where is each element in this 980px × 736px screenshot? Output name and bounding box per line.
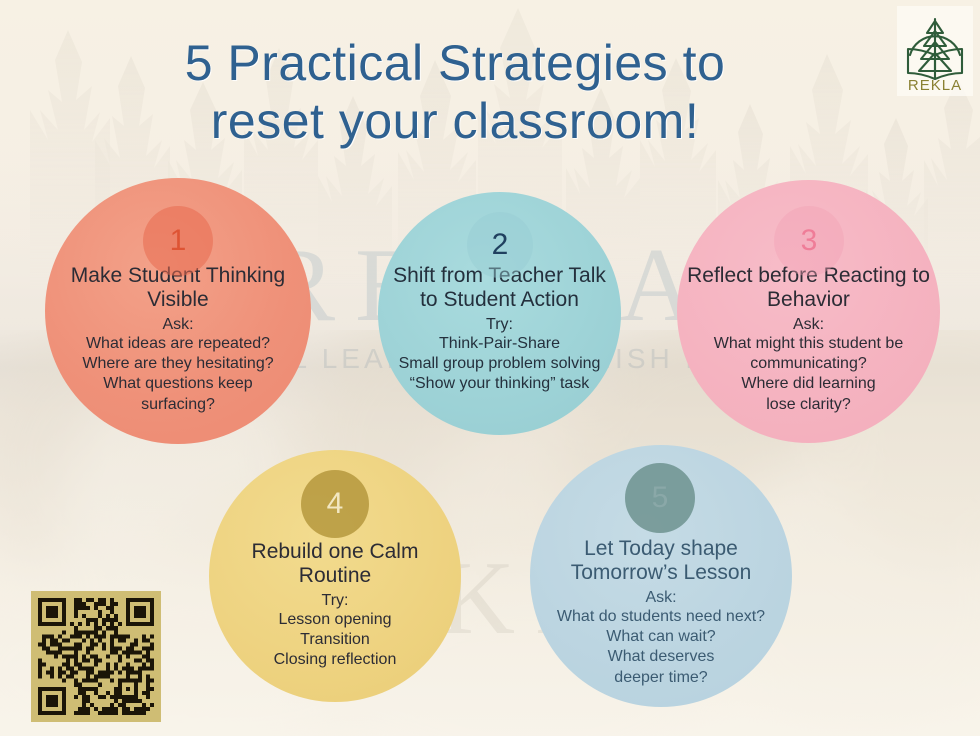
strategy-circle-3[interactable]: 3 Reflect before Reacting to Behavior As… [677, 180, 940, 443]
strategy-number-badge-4: 4 [301, 470, 369, 538]
logo-wordmark: REKLA [908, 77, 962, 93]
strategy-item: What do students need next? [557, 607, 765, 627]
strategy-item: What might this student be [714, 334, 903, 354]
strategy-item: What deserves [557, 647, 765, 667]
strategy-item: Where did learning [714, 374, 903, 394]
strategy-item: Lesson opening [274, 610, 397, 630]
strategy-item: Think-Pair-Share [399, 334, 601, 354]
strategy-lead-3: Ask: [793, 315, 824, 334]
strategy-item: Small group problem solving [399, 354, 601, 374]
brand-logo: REKLA [897, 6, 973, 96]
strategy-lead-2: Try: [486, 315, 513, 334]
strategy-item: “Show your thinking” task [399, 374, 601, 394]
strategy-item: What questions keep [82, 374, 273, 394]
strategy-item: What ideas are repeated? [82, 334, 273, 354]
strategy-number-badge-1: 1 [143, 206, 213, 276]
strategy-title-4: Rebuild one Calm Routine [209, 540, 461, 588]
strategy-circle-2[interactable]: 2 Shift from Teacher Talk to Student Act… [378, 192, 621, 435]
strategy-circle-1[interactable]: 1 Make Student Thinking Visible Ask: Wha… [45, 178, 311, 444]
strategy-circle-4[interactable]: 4 Rebuild one Calm Routine Try: Lesson o… [209, 450, 461, 702]
strategy-circle-5[interactable]: 5 Let Today shape Tomorrow’s Lesson Ask:… [530, 445, 792, 707]
strategy-title-5: Let Today shape Tomorrow’s Lesson [530, 537, 792, 585]
page-title-line1: 5 Practical Strategies to [185, 35, 726, 91]
strategy-number-badge-5: 5 [625, 463, 695, 533]
strategy-lead-4: Try: [322, 591, 349, 610]
page-title: 5 Practical Strategies to reset your cla… [40, 34, 870, 150]
strategy-items-1: What ideas are repeated? Where are they … [82, 334, 273, 415]
strategy-lead-1: Ask: [162, 315, 193, 334]
strategy-items-5: What do students need next? What can wai… [557, 607, 765, 688]
strategy-item: Transition [274, 630, 397, 650]
pine-tree-book-icon: REKLA [900, 9, 970, 93]
poster-canvas: REKLA GLOBAL LEARNING - FINNISH ROOTS RE… [0, 0, 980, 736]
strategy-item: What can wait? [557, 627, 765, 647]
strategy-lead-5: Ask: [645, 588, 676, 607]
strategy-item: Where are they hesitating? [82, 354, 273, 374]
qr-code[interactable] [31, 591, 161, 722]
strategy-item: communicating? [714, 354, 903, 374]
strategy-item: Closing reflection [274, 650, 397, 670]
strategy-item: surfacing? [82, 395, 273, 415]
strategy-number-badge-3: 3 [774, 206, 844, 276]
strategy-items-2: Think-Pair-Share Small group problem sol… [399, 334, 601, 394]
strategy-items-3: What might this student be communicating… [714, 334, 903, 415]
strategy-items-4: Lesson opening Transition Closing reflec… [274, 610, 397, 670]
strategy-number-badge-2: 2 [467, 212, 533, 278]
strategy-item: deeper time? [557, 668, 765, 688]
page-title-line2: reset your classroom! [40, 92, 870, 150]
qr-code-canvas[interactable] [38, 598, 154, 715]
strategy-item: lose clarity? [714, 395, 903, 415]
